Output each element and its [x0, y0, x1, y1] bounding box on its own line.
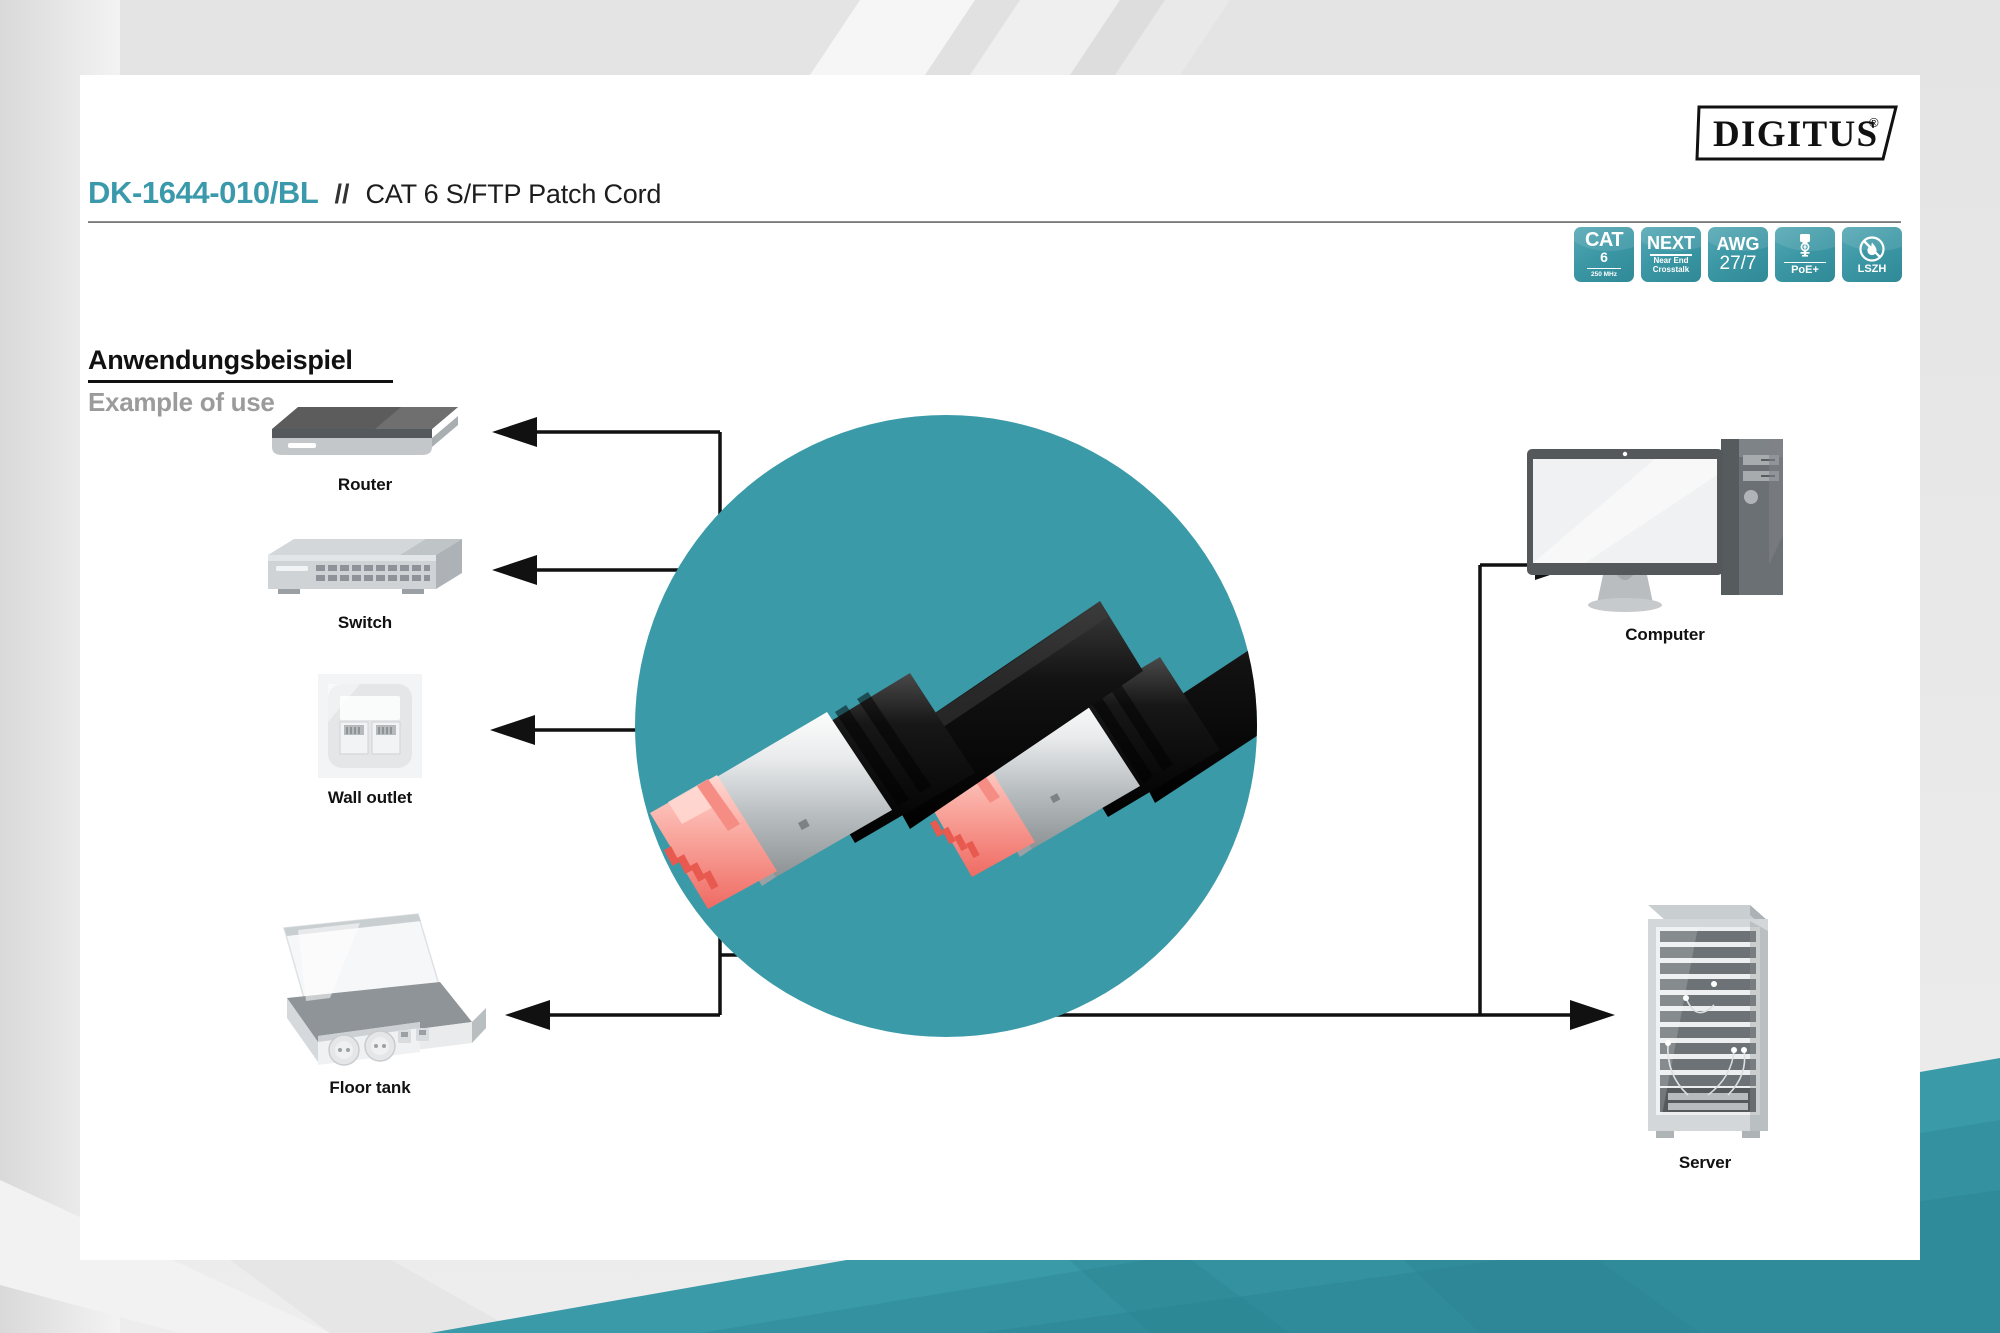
node-wall-outlet: Wall outlet	[290, 670, 450, 810]
wall-outlet-label: Wall outlet	[290, 788, 450, 808]
desktop-computer-icon	[1525, 435, 1805, 620]
computer-label: Computer	[1525, 625, 1805, 645]
switch-label: Switch	[250, 613, 480, 633]
node-switch: Switch	[250, 533, 480, 643]
digitus-logo: DIGITUS ®	[1693, 103, 1898, 165]
arrow-head-switch	[492, 555, 537, 585]
floor-tank-icon	[240, 910, 500, 1075]
arrow-head-floor-tank	[505, 1000, 550, 1030]
content-card: DIGITUS ® DK-1644-010/BL // CAT 6 S/FTP …	[80, 75, 1920, 1260]
router-icon	[250, 395, 480, 470]
floor-tank-label: Floor tank	[240, 1078, 500, 1098]
application-diagram: Router	[80, 75, 1920, 1260]
registered-mark: ®	[1869, 115, 1879, 130]
page-background: DIGITUS ® DK-1644-010/BL // CAT 6 S/FTP …	[0, 0, 2000, 1333]
node-server: Server	[1600, 895, 1810, 1175]
node-router: Router	[250, 395, 480, 505]
arrow-head-wall-outlet	[490, 715, 535, 745]
arrow-head-router	[492, 417, 537, 447]
server-label: Server	[1600, 1153, 1810, 1173]
server-rack-icon	[1600, 895, 1810, 1145]
node-computer: Computer	[1525, 435, 1805, 655]
wall-outlet-icon	[290, 670, 450, 785]
digitus-logo-text: DIGITUS	[1713, 114, 1878, 155]
node-floor-tank: Floor tank	[240, 910, 500, 1100]
router-label: Router	[250, 475, 480, 495]
switch-icon	[250, 533, 480, 608]
